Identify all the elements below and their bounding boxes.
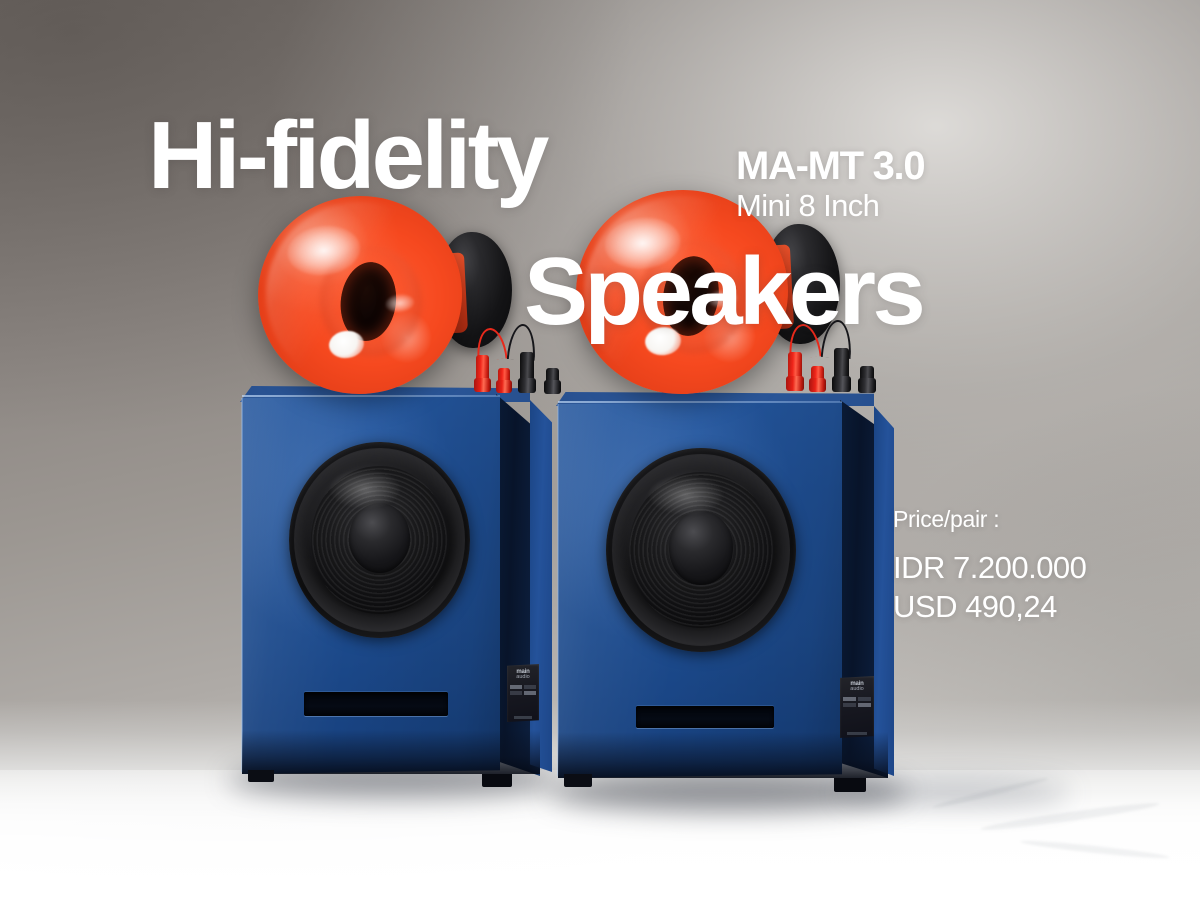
product-poster: main audio xyxy=(0,0,1200,900)
bass-reflex-port xyxy=(636,706,774,728)
woofer-specular-highlight xyxy=(648,475,724,516)
label-spec-row xyxy=(510,685,536,689)
woofer-dust-cap xyxy=(669,511,734,584)
cabinet-left-edge-highlight xyxy=(557,404,559,776)
binding-post-cap-red xyxy=(496,380,512,393)
woofer-dust-cap xyxy=(349,503,411,574)
cabinet-left-edge-highlight xyxy=(241,398,243,772)
cabinet-side-panel-edge xyxy=(874,406,894,776)
speaker-unit-left: main audio xyxy=(230,378,560,790)
binding-post-cap-red xyxy=(786,376,804,391)
label-spec-rows xyxy=(840,697,874,709)
label-chip xyxy=(843,697,856,701)
binding-post-cap-red xyxy=(474,378,491,392)
label-spec-row xyxy=(843,703,871,707)
label-brand-line2: audio xyxy=(516,675,529,681)
label-spec-row xyxy=(843,697,871,701)
cabinet-bottom-shading xyxy=(242,730,540,774)
model-code: MA-MT 3.0 xyxy=(736,146,924,186)
cabinet-spec-label: main audio xyxy=(507,664,539,722)
speaker-unit-right: main audio xyxy=(548,388,898,798)
label-chip xyxy=(510,691,522,695)
price-block: Price/pair : IDR 7.200.000 USD 490,24 xyxy=(893,508,1086,626)
headline-line-1: Hi-fidelity xyxy=(148,112,546,200)
label-chip xyxy=(858,703,871,707)
label-chip xyxy=(843,703,856,707)
headline-line-2: Speakers xyxy=(524,248,922,336)
label-brand-line2: audio xyxy=(850,687,863,693)
binding-post-cap-black xyxy=(858,378,876,393)
label-chip xyxy=(858,697,871,701)
model-subtitle: Mini 8 Inch xyxy=(736,189,924,224)
woofer-driver xyxy=(289,442,470,638)
cabinet-foot xyxy=(564,774,592,787)
cabinet-spec-label: main audio xyxy=(840,676,874,738)
binding-post-cap-black xyxy=(832,376,851,392)
label-chip xyxy=(524,685,536,689)
label-chip xyxy=(510,685,522,689)
model-info-block: MA-MT 3.0 Mini 8 Inch xyxy=(736,146,924,224)
horn-bell xyxy=(247,184,474,405)
label-footer-mark xyxy=(514,716,532,719)
cabinet-top-edge-highlight xyxy=(558,401,842,403)
label-spec-row xyxy=(510,691,536,695)
cabinet-bottom-shading xyxy=(558,732,888,778)
woofer-driver xyxy=(606,448,796,652)
price-label: Price/pair : xyxy=(893,508,1086,531)
cabinet-foot xyxy=(482,774,512,787)
cabinet-foot xyxy=(248,770,274,782)
woofer-specular-highlight xyxy=(329,469,401,508)
cabinet-foot xyxy=(834,778,866,792)
price-idr: IDR 7.200.000 xyxy=(893,548,1086,587)
binding-post-cap-red xyxy=(809,378,826,392)
price-usd: USD 490,24 xyxy=(893,587,1086,626)
binding-post-cap-black xyxy=(518,378,536,393)
label-chip xyxy=(524,691,536,695)
label-spec-rows xyxy=(507,685,539,697)
bass-reflex-port xyxy=(304,692,448,716)
